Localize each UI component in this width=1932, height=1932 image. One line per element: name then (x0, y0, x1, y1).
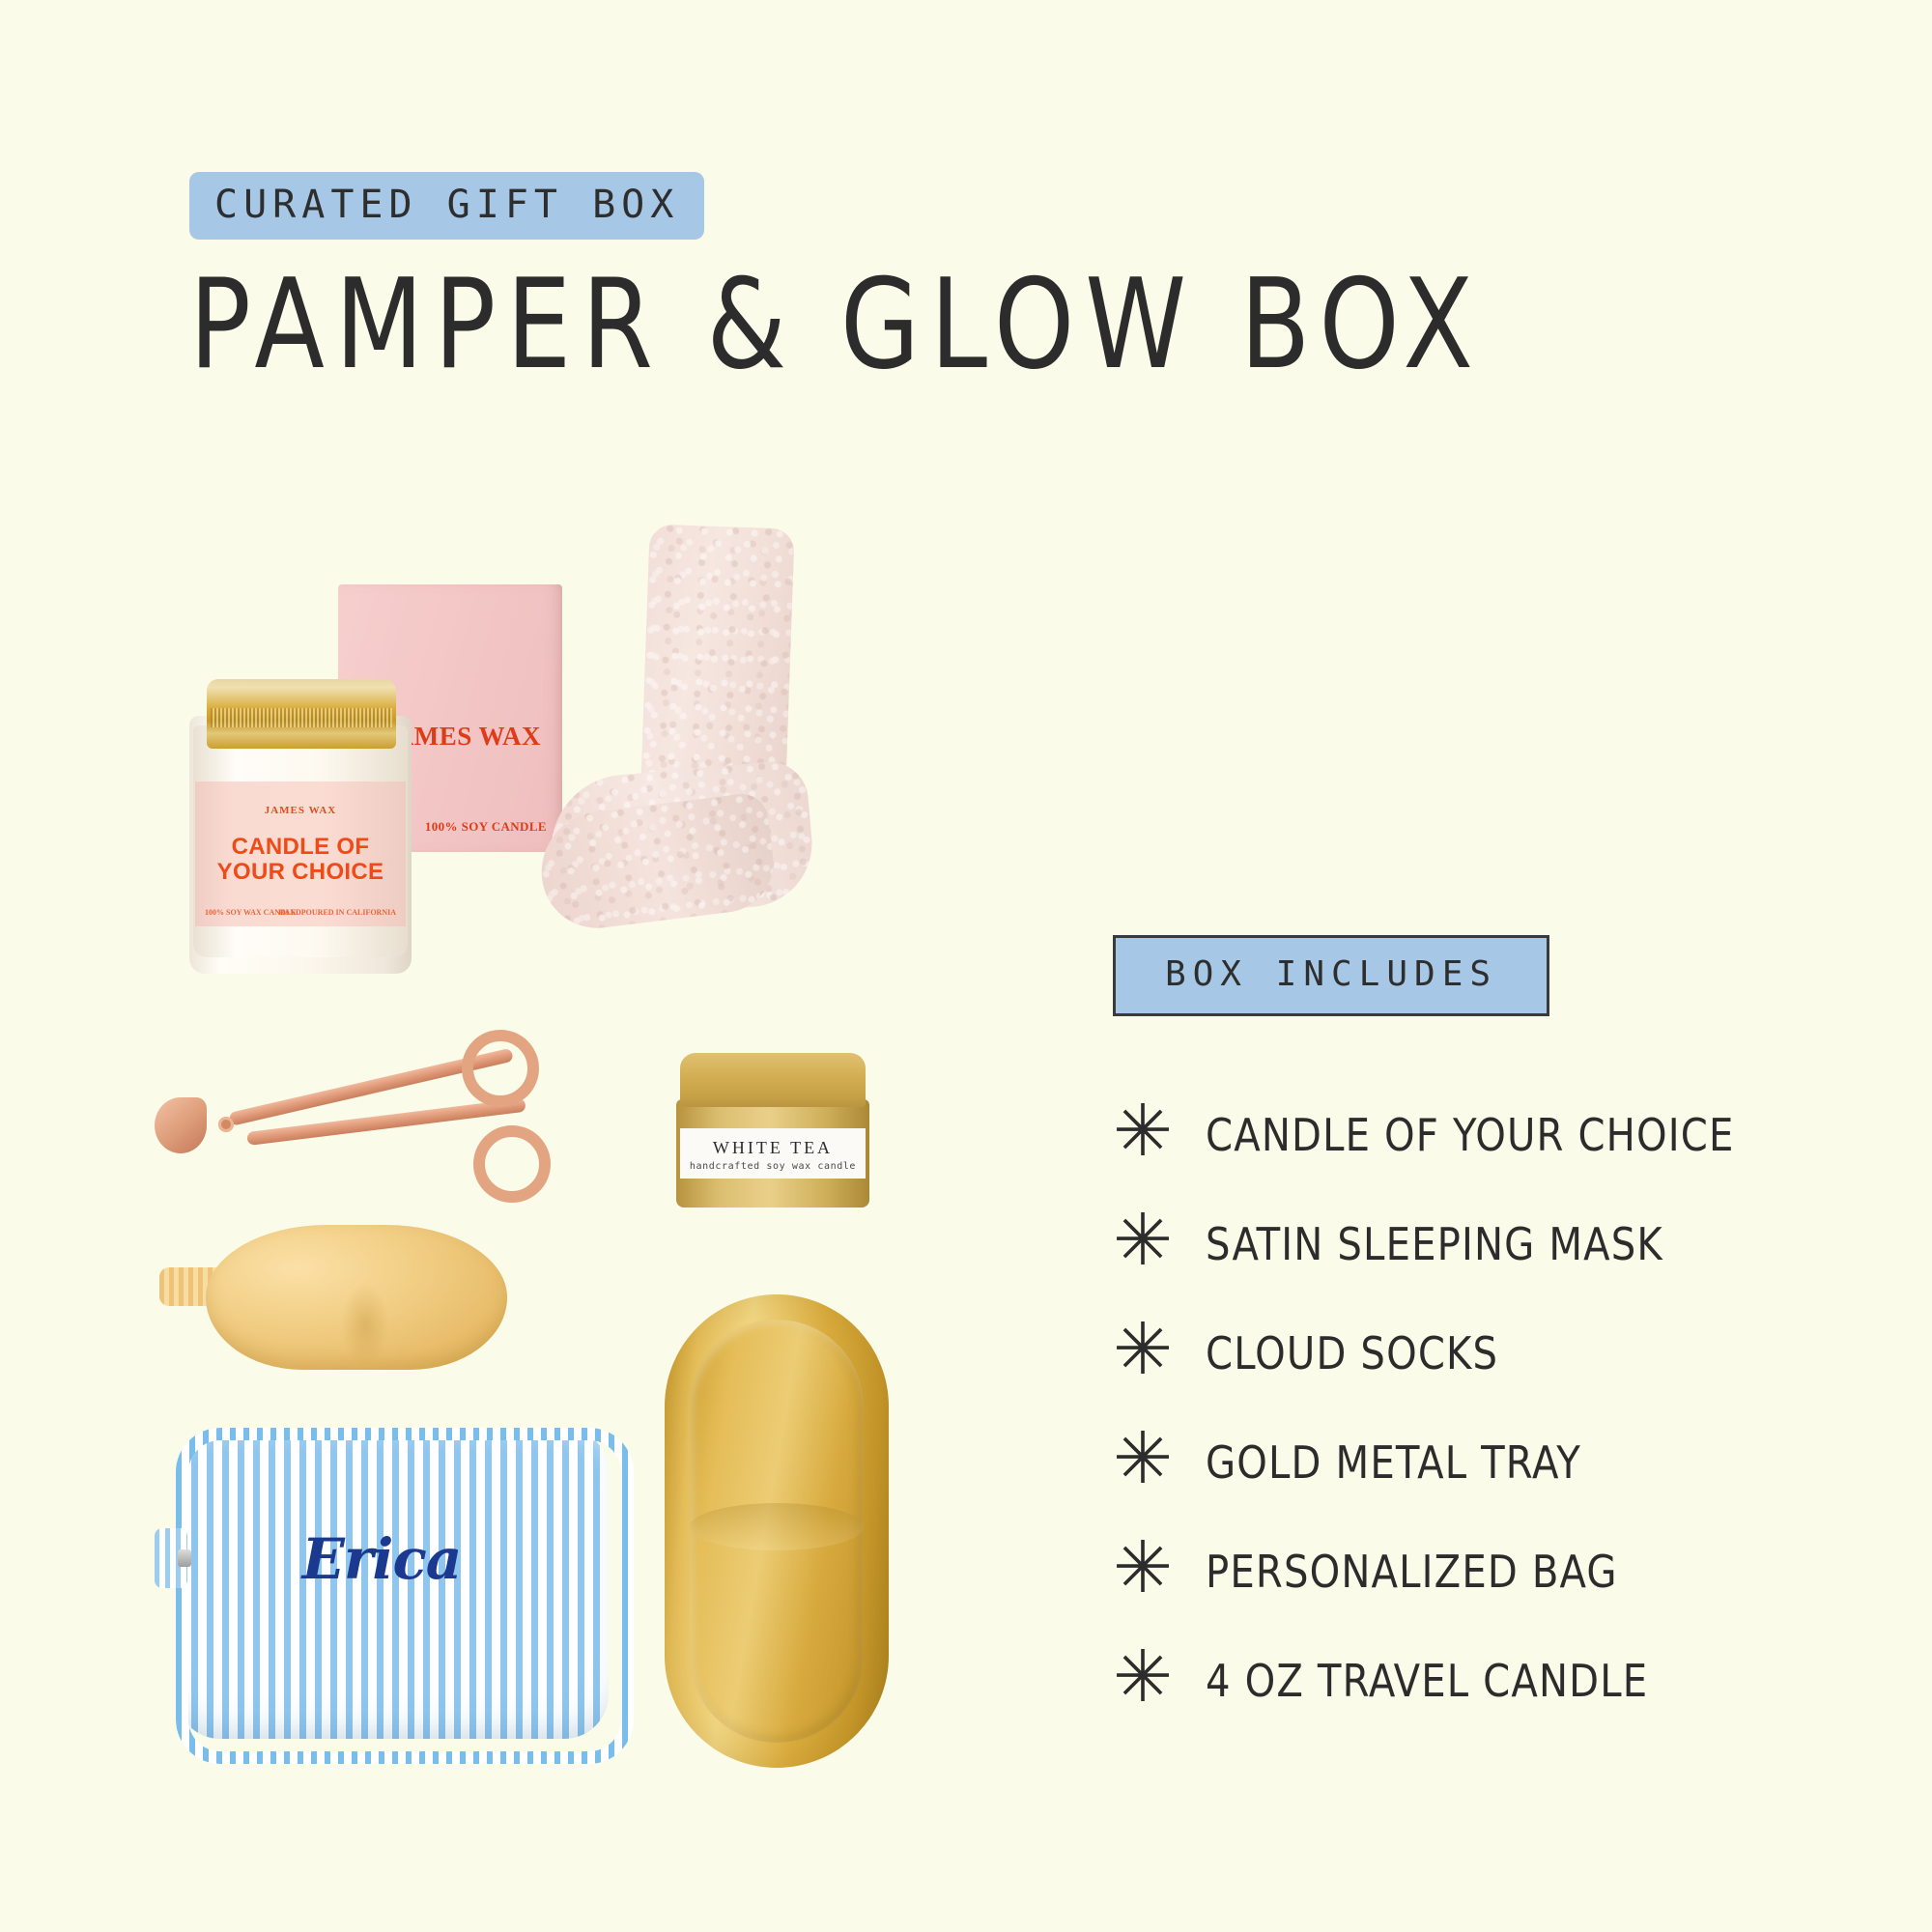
box-includes-list: ✳ CANDLE OF YOUR CHOICE ✳ SATIN SLEEPING… (1113, 1105, 1886, 1711)
jar-label-footer-right: HANDPOURED IN CALIFORNIA (278, 908, 396, 917)
page-title: PAMPER & GLOW BOX (189, 261, 1434, 390)
list-item-label: CLOUD SOCKS (1206, 1327, 1498, 1379)
pink-box-brand: JAMES WAX (338, 722, 541, 752)
asterisk-icon: ✳ (1113, 1314, 1206, 1385)
bag-zipper-pull (155, 1528, 187, 1588)
eyebrow-badge: CURATED GIFT BOX (189, 172, 704, 240)
list-item-label: GOLD METAL TRAY (1206, 1436, 1581, 1489)
list-item-label: CANDLE OF YOUR CHOICE (1206, 1109, 1735, 1161)
asterisk-icon: ✳ (1113, 1205, 1206, 1276)
jar-label-title-line-1: CANDLE OF (232, 834, 370, 860)
bag-body (176, 1428, 609, 1739)
sock-texture (639, 524, 794, 847)
tray-inner-well (690, 1320, 864, 1743)
pink-box-subtitle: 100% SOY CANDLE (425, 819, 547, 835)
product-travel-candle-tin: WHITE TEA handcrafted soy wax candle (676, 1053, 869, 1207)
jar-label-title-line-2: YOUR CHOICE (217, 859, 384, 885)
trimmer-arm-lower (246, 1098, 526, 1146)
trimmer-ring-upper (462, 1030, 539, 1107)
product-pink-candle-box: JAMES WAX 100% SOY CANDLE (338, 584, 562, 852)
product-cloud-socks (541, 526, 831, 1067)
asterisk-icon: ✳ (1113, 1095, 1206, 1167)
box-includes-panel: BOX INCLUDES ✳ CANDLE OF YOUR CHOICE ✳ S… (1113, 935, 1886, 1711)
trimmer-head (155, 1097, 207, 1153)
tin-description: handcrafted soy wax candle (680, 1161, 866, 1172)
tin-body (676, 1099, 869, 1207)
trimmer-pivot-screw (218, 1117, 234, 1132)
product-wick-trimmer (155, 1024, 570, 1207)
list-item-label: PERSONALIZED BAG (1206, 1546, 1618, 1598)
tin-label: WHITE TEA handcrafted soy wax candle (680, 1128, 866, 1179)
product-personalized-bag: Erica (155, 1428, 609, 1747)
tray-sheen (690, 1503, 864, 1550)
list-item: ✳ CLOUD SOCKS (1113, 1323, 1886, 1383)
sock-texture (535, 791, 780, 934)
list-item: ✳ GOLD METAL TRAY (1113, 1433, 1886, 1492)
asterisk-icon: ✳ (1113, 1641, 1206, 1713)
tin-scent-name: WHITE TEA (680, 1138, 866, 1158)
jar-label-brand: JAMES WAX (195, 805, 406, 816)
jar-glass (189, 716, 412, 974)
jar-label-title: CANDLE OF YOUR CHOICE (195, 835, 406, 885)
sock-foot-front (535, 791, 780, 934)
sleep-mask-body (206, 1225, 507, 1370)
trimmer-ring-lower (473, 1125, 551, 1203)
sock-texture (545, 759, 817, 924)
list-item: ✳ PERSONALIZED BAG (1113, 1542, 1886, 1602)
list-item-label: 4 OZ TRAVEL CANDLE (1206, 1655, 1648, 1707)
list-item: ✳ 4 OZ TRAVEL CANDLE (1113, 1651, 1886, 1711)
box-includes-header: BOX INCLUDES (1113, 935, 1549, 1016)
tray-outer-rim (665, 1294, 889, 1768)
jar-label-footer-left: 100% SOY WAX CANDLE (205, 908, 296, 917)
jar-wax (193, 725, 408, 957)
list-item: ✳ CANDLE OF YOUR CHOICE (1113, 1105, 1886, 1165)
jar-label: JAMES WAX CANDLE OF YOUR CHOICE 100% SOY… (195, 781, 406, 926)
sock-foot-back (545, 759, 817, 924)
sock-leg (639, 524, 794, 847)
product-candle-jar: JAMES WAX CANDLE OF YOUR CHOICE 100% SOY… (189, 679, 412, 974)
sleep-mask-strap (159, 1267, 229, 1306)
jar-gold-lid (207, 679, 396, 749)
list-item-label: SATIN SLEEPING MASK (1206, 1218, 1663, 1270)
trimmer-arm-upper (228, 1048, 513, 1126)
product-gold-metal-tray (665, 1294, 889, 1768)
asterisk-icon: ✳ (1113, 1532, 1206, 1604)
tin-lid (680, 1053, 866, 1107)
bag-piping-trim (176, 1428, 634, 1764)
product-satin-sleep-mask (159, 1225, 507, 1372)
list-item: ✳ SATIN SLEEPING MASK (1113, 1214, 1886, 1274)
header: CURATED GIFT BOX PAMPER & GLOW BOX (189, 172, 1542, 390)
bag-embroidered-name: Erica (155, 1526, 609, 1592)
asterisk-icon: ✳ (1113, 1423, 1206, 1494)
